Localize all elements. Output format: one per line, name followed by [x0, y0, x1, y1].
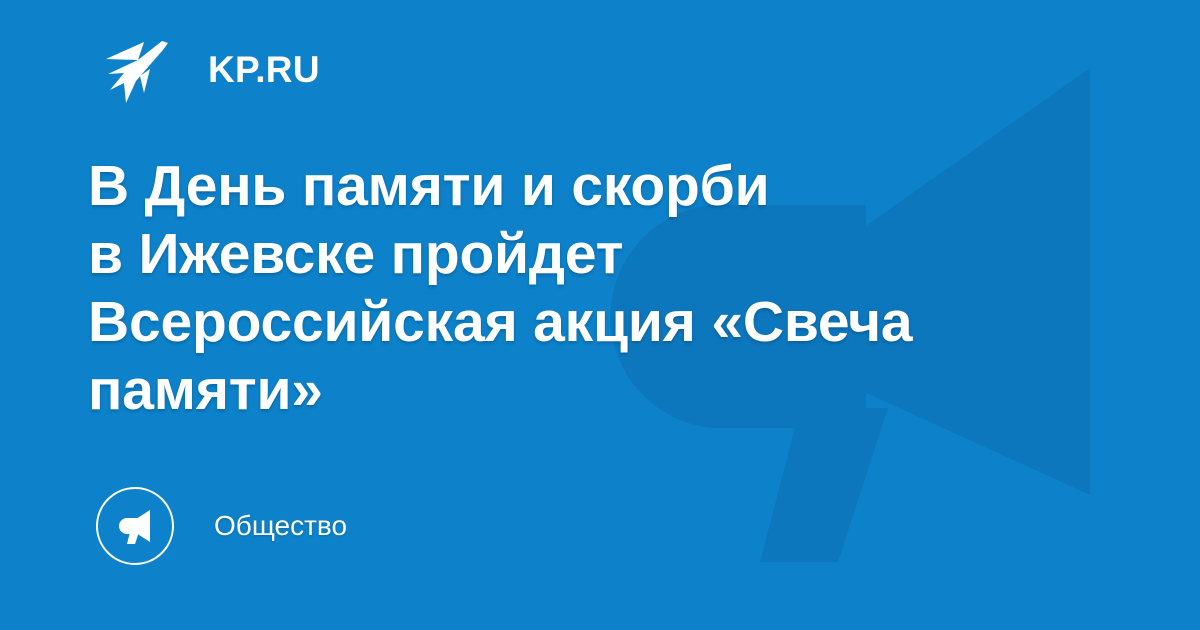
page-title: В День памяти и скорби в Ижевске пройдет…: [88, 152, 988, 424]
rubric-label: Общество: [214, 512, 347, 540]
brand-header[interactable]: KP.RU: [104, 33, 320, 105]
headline-line-3: Всероссийская акция «Свеча: [88, 288, 988, 356]
headline-line-1: В День памяти и скорби: [88, 152, 988, 220]
headline-line-4: памяти»: [88, 356, 988, 424]
swallow-bird-icon: [104, 33, 176, 105]
headline-line-2: в Ижевске пройдет: [88, 220, 988, 288]
brand-name: KP.RU: [208, 51, 320, 88]
social-share-card: KP.RU В День памяти и скорби в Ижевске п…: [0, 0, 1200, 630]
megaphone-icon: [96, 487, 174, 565]
rubric-badge[interactable]: Общество: [96, 486, 347, 566]
